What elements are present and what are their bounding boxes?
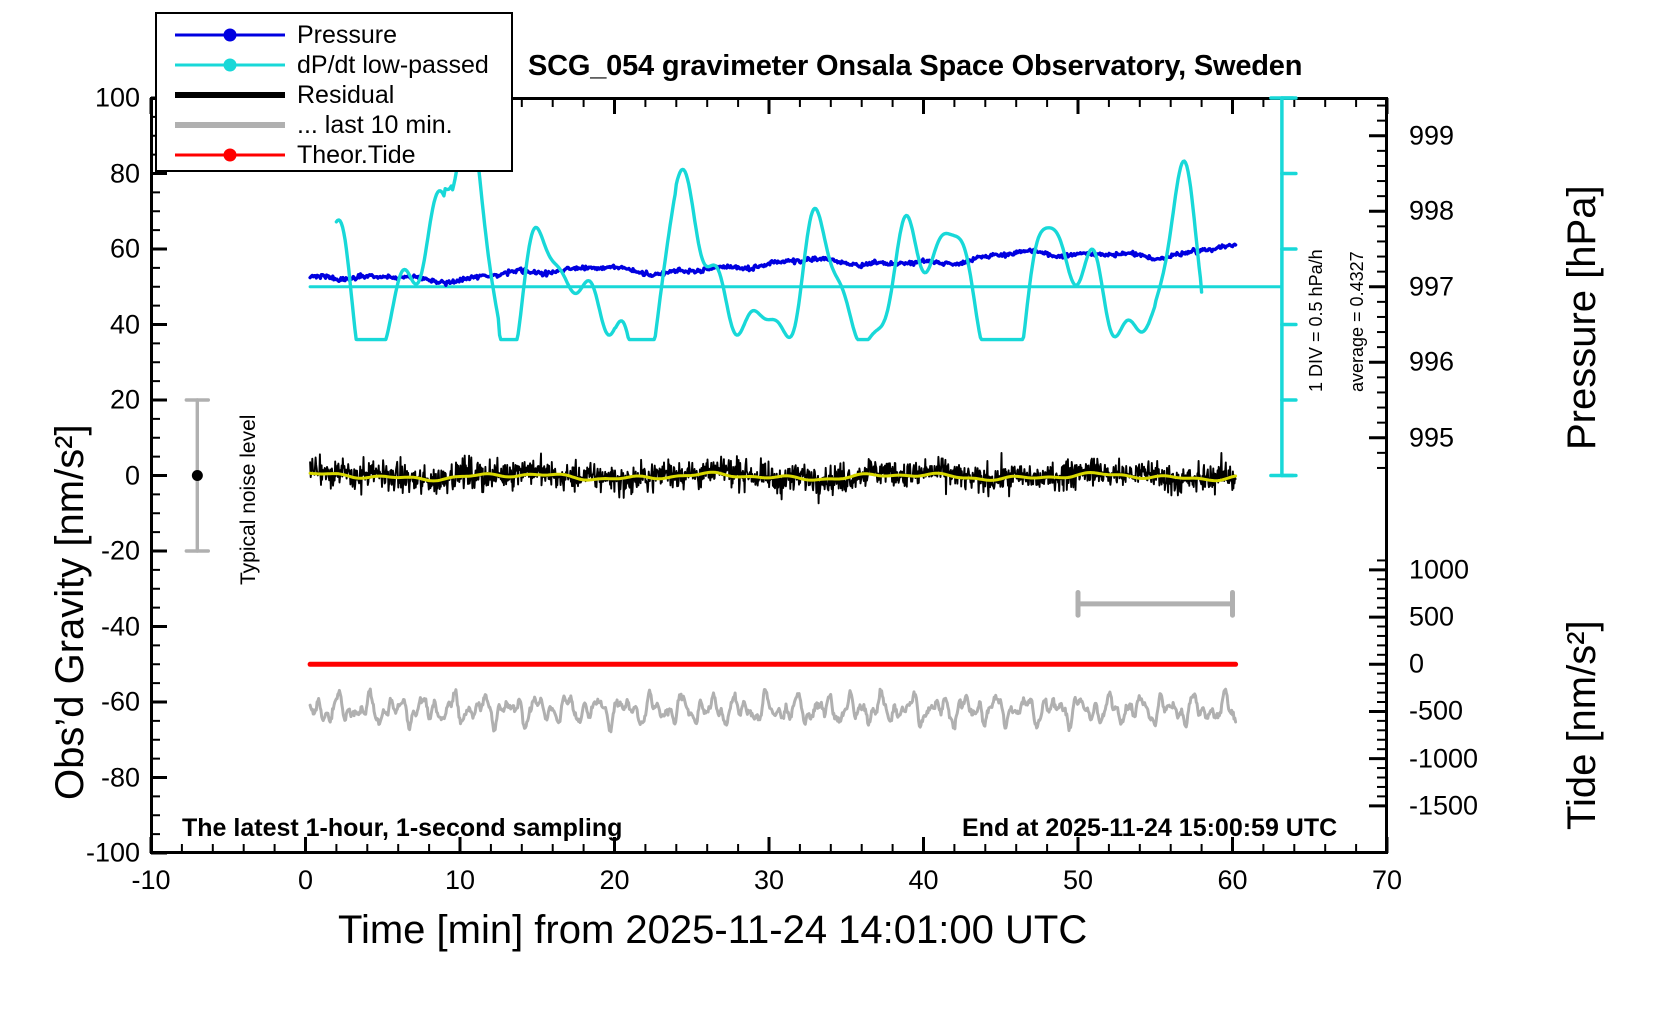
x-tick-60: 60 <box>1217 865 1247 896</box>
legend-item-pressure[interactable]: Pressure <box>171 20 511 50</box>
y-tick-pressure-995: 995 <box>1409 422 1454 453</box>
y-tick-pressure-996: 996 <box>1409 347 1454 378</box>
legend-swatch-tide <box>171 140 289 170</box>
sampling-note: The latest 1-hour, 1-second sampling <box>182 814 622 843</box>
chart-title: SCG_054 gravimeter Onsala Space Observat… <box>528 50 1302 83</box>
y-tick-left--100: -100 <box>40 838 140 869</box>
legend-item-residual[interactable]: Residual <box>171 80 511 110</box>
end-time-note: End at 2025-11-24 15:00:59 UTC <box>962 814 1337 843</box>
legend-label-residual: Residual <box>297 81 394 110</box>
y-axis-title-right-tide: Tide [nm/s²] <box>1560 620 1605 830</box>
x-tick-0: 0 <box>298 865 313 896</box>
x-tick-40: 40 <box>908 865 938 896</box>
y-tick-tide--1000: -1000 <box>1409 743 1478 774</box>
chart-legend: Pressure dP/dt low-passed Residual ... l… <box>155 12 513 172</box>
y-tick-left--80: -80 <box>40 762 140 793</box>
y-tick-tide--500: -500 <box>1409 696 1463 727</box>
x-tick-50: 50 <box>1063 865 1093 896</box>
legend-item-tide[interactable]: Theor.Tide <box>171 140 511 170</box>
chart-page: SCG_054 gravimeter Onsala Space Observat… <box>0 0 1660 1020</box>
y-tick-tide--1500: -1500 <box>1409 790 1478 821</box>
y-tick-tide-0: 0 <box>1409 649 1424 680</box>
legend-label-dpdt: dP/dt low-passed <box>297 51 489 80</box>
x-tick-10: 10 <box>445 865 475 896</box>
legend-swatch-dpdt <box>171 50 289 80</box>
y-tick-left-80: 80 <box>40 158 140 189</box>
x-axis-title: Time [min] from 2025-11-24 14:01:00 UTC <box>338 908 1087 953</box>
y-tick-left-60: 60 <box>40 234 140 265</box>
y-tick-left-0: 0 <box>40 460 140 491</box>
y-tick-left--40: -40 <box>40 611 140 642</box>
x-tick-20: 20 <box>599 865 629 896</box>
y-tick-tide-1000: 1000 <box>1409 554 1469 585</box>
x-tick-30: 30 <box>754 865 784 896</box>
y-tick-left--60: -60 <box>40 687 140 718</box>
legend-swatch-last10 <box>171 110 289 140</box>
legend-label-tide: Theor.Tide <box>297 141 416 170</box>
legend-item-last10[interactable]: ... last 10 min. <box>171 110 511 140</box>
y-tick-left-40: 40 <box>40 309 140 340</box>
y-tick-left-100: 100 <box>40 83 140 114</box>
y-tick-left-20: 20 <box>40 385 140 416</box>
y-tick-pressure-997: 997 <box>1409 271 1454 302</box>
y-axis-title-right-pressure: Pressure [hPa] <box>1560 185 1605 450</box>
legend-swatch-pressure <box>171 20 289 50</box>
y-tick-tide-500: 500 <box>1409 602 1454 633</box>
legend-swatch-residual <box>171 80 289 110</box>
y-tick-pressure-999: 999 <box>1409 120 1454 151</box>
typical-noise-level-label: Typical noise level <box>237 415 261 585</box>
legend-label-pressure: Pressure <box>297 21 397 50</box>
legend-label-last10: ... last 10 min. <box>297 111 453 140</box>
pressure-scale-bar-label: 1 DIV = 0.5 hPa/h <box>1306 249 1327 392</box>
x-tick--10: -10 <box>131 865 170 896</box>
pressure-average-label: average = 0.4327 <box>1347 251 1368 392</box>
y-tick-left--20: -20 <box>40 536 140 567</box>
x-tick-70: 70 <box>1372 865 1402 896</box>
legend-item-dpdt[interactable]: dP/dt low-passed <box>171 50 511 80</box>
y-tick-pressure-998: 998 <box>1409 196 1454 227</box>
plot-frame <box>150 97 1388 854</box>
